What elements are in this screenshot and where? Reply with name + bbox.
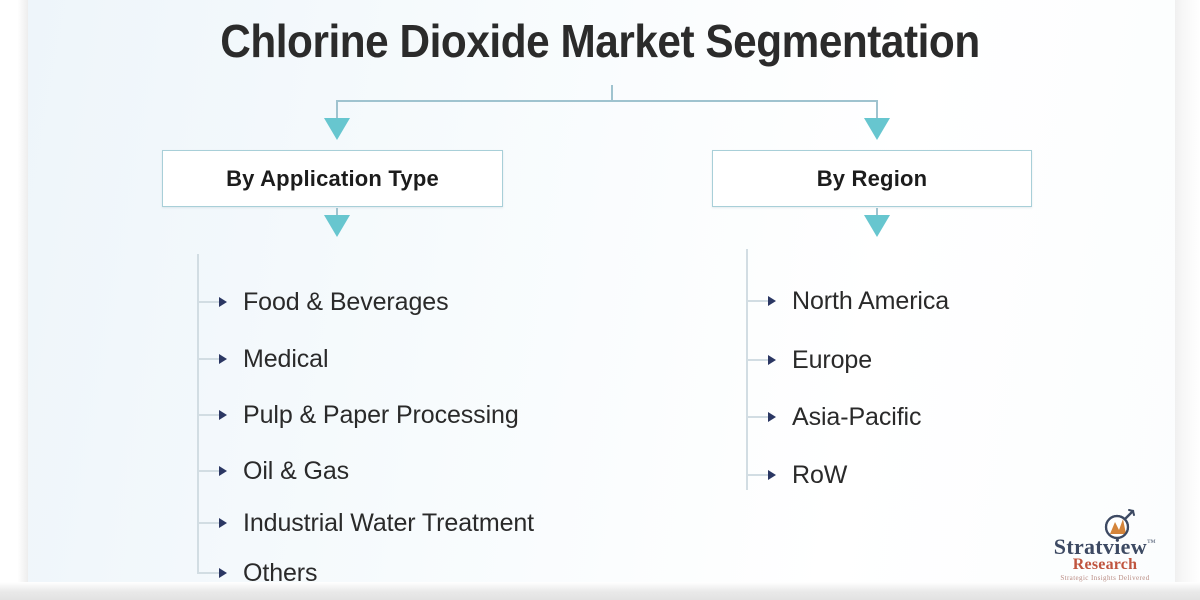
logo-subtitle: Research xyxy=(1030,556,1180,574)
arrow-bullet-icon xyxy=(768,296,776,306)
list-item[interactable]: North America xyxy=(746,286,949,316)
list-item[interactable]: Europe xyxy=(746,345,872,375)
arrow-bullet-icon xyxy=(219,466,227,476)
arrow-bullet-icon xyxy=(219,297,227,307)
infographic-root: Chlorine Dioxide Market Segmentation By … xyxy=(0,0,1200,600)
connector-tick xyxy=(197,414,219,416)
arrow-bullet-icon xyxy=(768,355,776,365)
list-item-label: Medical xyxy=(243,345,328,374)
arrow-bullet-icon xyxy=(219,568,227,578)
page-title: Chlorine Dioxide Market Segmentation xyxy=(48,14,1152,68)
bottom-page-band xyxy=(0,582,1200,600)
list-item-label: RoW xyxy=(792,461,847,490)
logo-trademark: ™ xyxy=(1147,538,1156,548)
arrow-bullet-icon xyxy=(219,354,227,364)
brand-logo[interactable]: Stratview™ Research Strategic Insights D… xyxy=(1030,508,1180,580)
connector-root-stub xyxy=(611,85,613,101)
connector-tick xyxy=(197,572,219,574)
arrow-down-icon-to-region-box xyxy=(864,118,890,140)
list-item[interactable]: Oil & Gas xyxy=(197,456,349,486)
list-item[interactable]: Medical xyxy=(197,344,328,374)
arrow-bullet-icon xyxy=(768,470,776,480)
arrow-bullet-icon xyxy=(768,412,776,422)
left-page-margin xyxy=(0,0,28,600)
list-item-label: Industrial Water Treatment xyxy=(243,509,534,538)
list-item-label: Europe xyxy=(792,346,872,375)
list-item-label: Asia-Pacific xyxy=(792,403,921,432)
arrow-down-icon-to-region-list xyxy=(864,215,890,237)
list-item[interactable]: RoW xyxy=(746,460,847,490)
connector-tick xyxy=(197,522,219,524)
logo-tagline: Strategic Insights Delivered xyxy=(1030,574,1180,582)
connector-tick xyxy=(197,358,219,360)
list-item-label: Others xyxy=(243,559,317,588)
connector-horizontal-bar xyxy=(336,100,878,102)
connector-tick xyxy=(197,470,219,472)
list-item-label: North America xyxy=(792,287,949,316)
list-item[interactable]: Others xyxy=(197,558,317,588)
connector-tick xyxy=(746,359,768,361)
connector-tick xyxy=(746,416,768,418)
category-box-application-type[interactable]: By Application Type xyxy=(162,150,503,207)
list-item[interactable]: Industrial Water Treatment xyxy=(197,508,534,538)
arrow-bullet-icon xyxy=(219,518,227,528)
list-item-label: Food & Beverages xyxy=(243,288,448,317)
arrow-bullet-icon xyxy=(219,410,227,420)
connector-tick xyxy=(746,474,768,476)
arrow-down-icon-to-application-list xyxy=(324,215,350,237)
list-item[interactable]: Asia-Pacific xyxy=(746,402,921,432)
arrow-down-icon-to-application-box xyxy=(324,118,350,140)
list-item[interactable]: Food & Beverages xyxy=(197,287,448,317)
list-item[interactable]: Pulp & Paper Processing xyxy=(197,400,519,430)
category-box-region[interactable]: By Region xyxy=(712,150,1032,207)
list-item-label: Oil & Gas xyxy=(243,457,349,486)
list-item-label: Pulp & Paper Processing xyxy=(243,401,519,430)
connector-tick xyxy=(746,300,768,302)
connector-tick xyxy=(197,301,219,303)
